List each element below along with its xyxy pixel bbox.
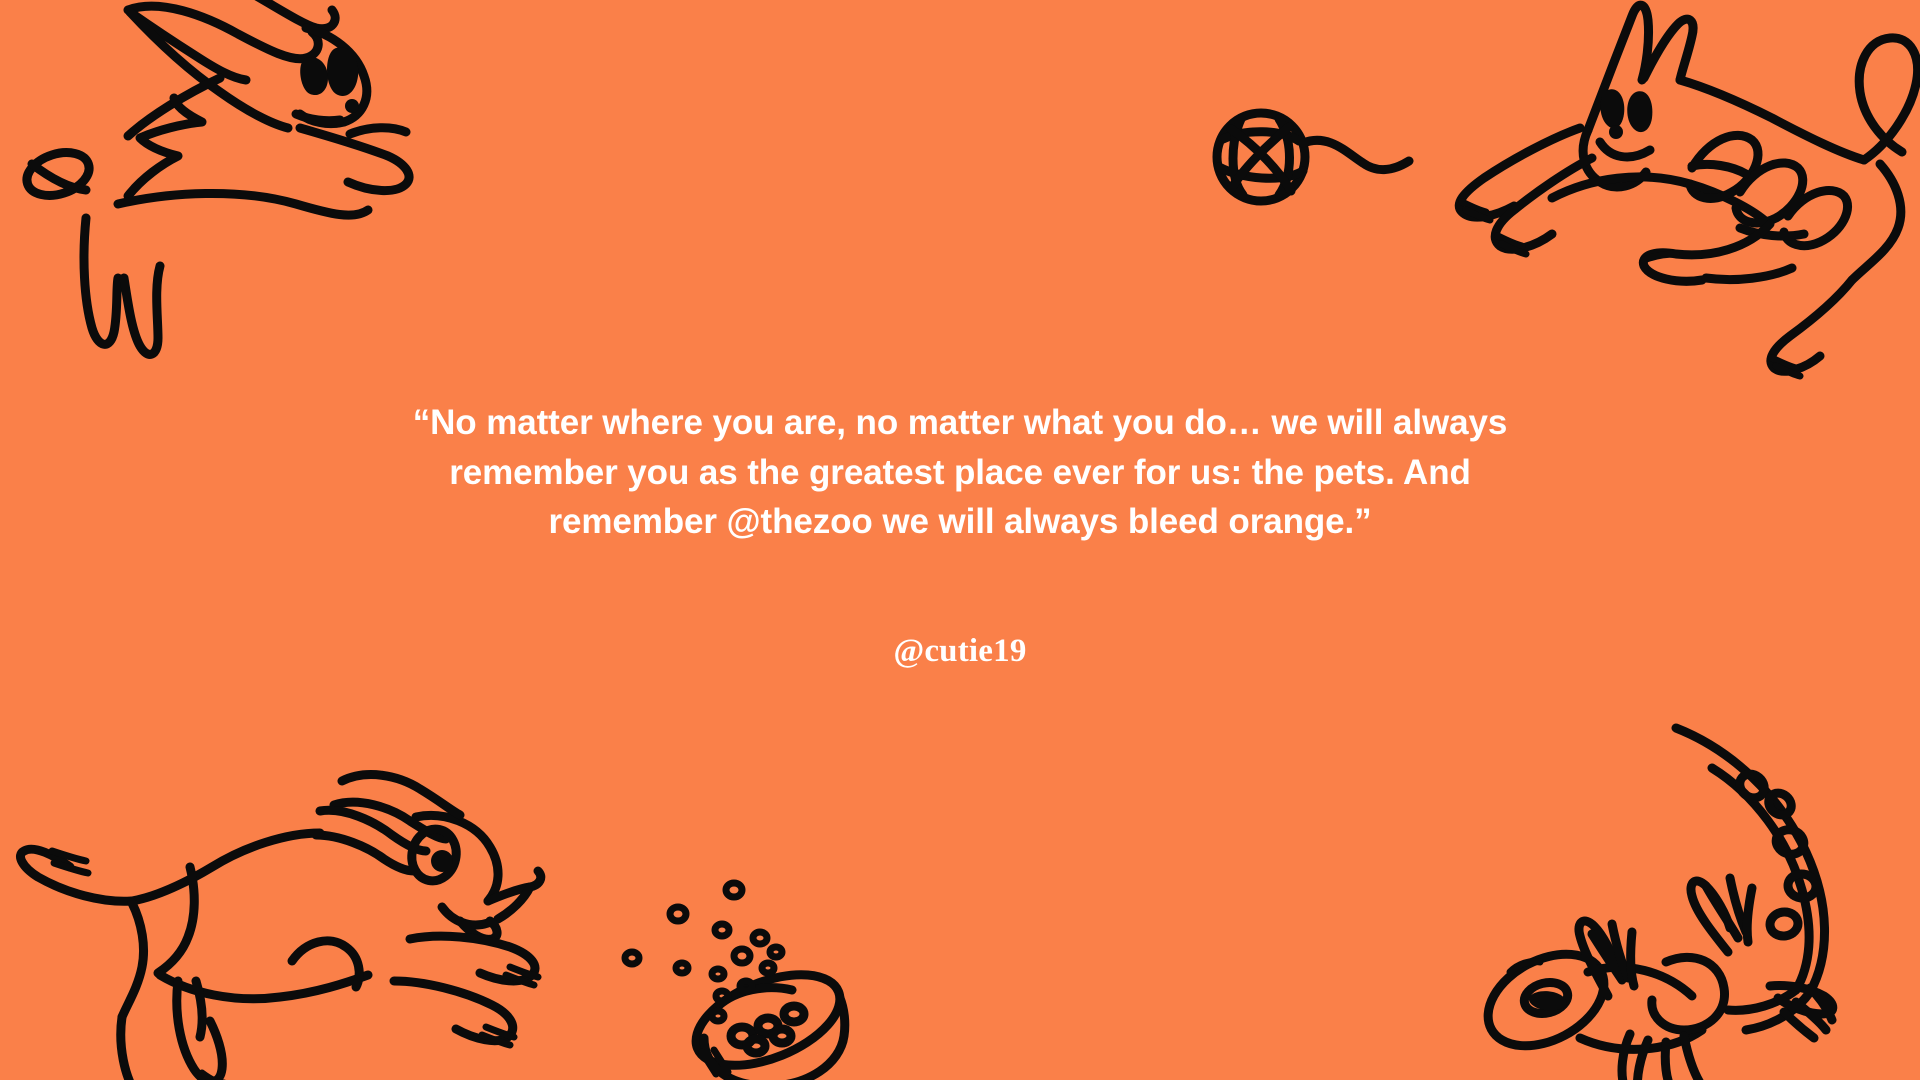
dog-illustration xyxy=(0,745,570,1080)
quote-block: “No matter where you are, no matter what… xyxy=(390,398,1530,670)
quote-attribution: @cutie19 xyxy=(390,633,1530,670)
cat-illustration xyxy=(1440,0,1920,380)
testimonial-page: “No matter where you are, no matter what… xyxy=(0,0,1920,1080)
food-bowl-illustration xyxy=(600,860,860,1080)
bunny-illustration xyxy=(10,0,430,366)
quote-text: “No matter where you are, no matter what… xyxy=(390,398,1530,547)
lizard-illustration xyxy=(1480,700,1920,1080)
yarn-ball-illustration xyxy=(1205,95,1445,225)
